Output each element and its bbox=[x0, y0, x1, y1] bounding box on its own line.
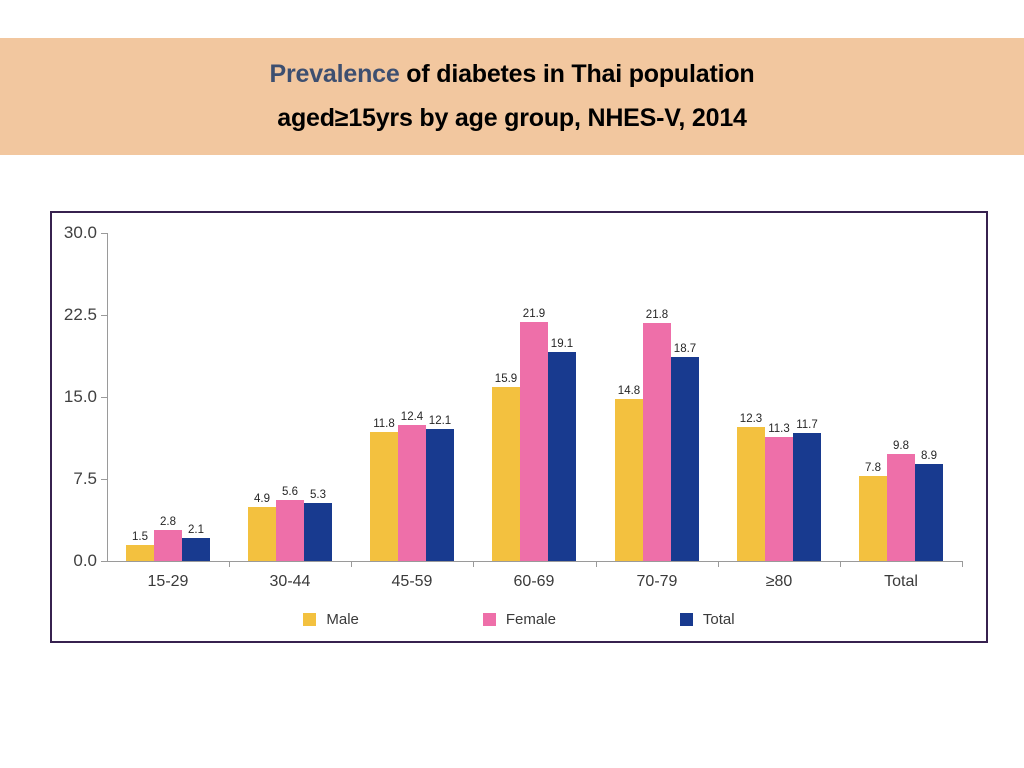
bar-slot: 9.8 bbox=[887, 233, 915, 561]
bar-slot: 1.5 bbox=[126, 233, 154, 561]
bar-slot: 12.4 bbox=[398, 233, 426, 561]
x-axis-category-label: 60-69 bbox=[473, 573, 595, 591]
bar-slot: 5.6 bbox=[276, 233, 304, 561]
plot-area: 0.07.515.022.530.0 1.52.82.115-294.95.65… bbox=[107, 233, 962, 561]
bar-value-label: 15.9 bbox=[495, 373, 517, 385]
bar-group-total: 7.89.88.9Total bbox=[840, 233, 962, 561]
bar-female[interactable] bbox=[887, 454, 915, 561]
bars-row: 1.52.82.1 bbox=[107, 233, 229, 561]
bar-value-label: 21.9 bbox=[523, 308, 545, 320]
y-axis-tick-label: 30.0 bbox=[64, 223, 97, 243]
x-axis-separator bbox=[718, 561, 719, 567]
bar-slot: 21.9 bbox=[520, 233, 548, 561]
y-axis-tick-label: 7.5 bbox=[73, 469, 97, 489]
bar-value-label: 21.8 bbox=[646, 309, 668, 321]
bar-male[interactable] bbox=[492, 387, 520, 561]
bar-slot: 11.7 bbox=[793, 233, 821, 561]
bar-value-label: 4.9 bbox=[254, 493, 270, 505]
y-axis-tick-label: 0.0 bbox=[73, 551, 97, 571]
bar-slot: 12.1 bbox=[426, 233, 454, 561]
bar-female[interactable] bbox=[154, 530, 182, 561]
bar-value-label: 14.8 bbox=[618, 385, 640, 397]
bar-female[interactable] bbox=[765, 437, 793, 561]
bar-value-label: 12.4 bbox=[401, 411, 423, 423]
chart-legend: MaleFemaleTotal bbox=[52, 611, 986, 628]
bar-group-60-69: 15.921.919.160-69 bbox=[473, 233, 595, 561]
title-band: Prevalence of diabetes in Thai populatio… bbox=[0, 38, 1024, 155]
x-axis-category-label: ≥80 bbox=[718, 573, 840, 591]
x-axis-separator bbox=[596, 561, 597, 567]
page-title-accent: Prevalence bbox=[270, 60, 400, 88]
bar-value-label: 5.3 bbox=[310, 489, 326, 501]
bar-slot: 11.8 bbox=[370, 233, 398, 561]
legend-item-female[interactable]: Female bbox=[483, 611, 556, 628]
bar-slot: 5.3 bbox=[304, 233, 332, 561]
bar-total[interactable] bbox=[915, 464, 943, 561]
bar-value-label: 19.1 bbox=[551, 338, 573, 350]
bar-slot: 4.9 bbox=[248, 233, 276, 561]
bar-value-label: 5.6 bbox=[282, 486, 298, 498]
bar-group-30-44: 4.95.65.330-44 bbox=[229, 233, 351, 561]
bar-total[interactable] bbox=[426, 429, 454, 561]
bar-slot: 12.3 bbox=[737, 233, 765, 561]
bars-row: 14.821.818.7 bbox=[596, 233, 718, 561]
bar-slot: 19.1 bbox=[548, 233, 576, 561]
bar-slot: 15.9 bbox=[492, 233, 520, 561]
x-axis-separator bbox=[229, 561, 230, 567]
legend-label: Total bbox=[703, 611, 735, 628]
y-axis-tick-label: 15.0 bbox=[64, 387, 97, 407]
x-axis-separator bbox=[473, 561, 474, 567]
bar-value-label: 2.1 bbox=[188, 524, 204, 536]
x-axis-category-label: 15-29 bbox=[107, 573, 229, 591]
legend-item-total[interactable]: Total bbox=[680, 611, 735, 628]
legend-label: Female bbox=[506, 611, 556, 628]
x-axis-category-label: 30-44 bbox=[229, 573, 351, 591]
bar-value-label: 12.1 bbox=[429, 415, 451, 427]
bar-total[interactable] bbox=[548, 352, 576, 561]
page-title-rest: of diabetes in Thai population bbox=[400, 60, 755, 88]
bar-value-label: 2.8 bbox=[160, 516, 176, 528]
y-axis-tick bbox=[101, 561, 107, 562]
bar-group-45-59: 11.812.412.145-59 bbox=[351, 233, 473, 561]
bar-slot: 8.9 bbox=[915, 233, 943, 561]
bar-slot: 2.8 bbox=[154, 233, 182, 561]
bar-male[interactable] bbox=[370, 432, 398, 561]
bar-value-label: 11.3 bbox=[768, 423, 790, 435]
bars-row: 4.95.65.3 bbox=[229, 233, 351, 561]
bar-total[interactable] bbox=[304, 503, 332, 561]
bar-total[interactable] bbox=[182, 538, 210, 561]
bars-row: 11.812.412.1 bbox=[351, 233, 473, 561]
bar-male[interactable] bbox=[859, 476, 887, 561]
bar-total[interactable] bbox=[671, 357, 699, 561]
bar-female[interactable] bbox=[520, 322, 548, 561]
x-axis-category-label: Total bbox=[840, 573, 962, 591]
bars-row: 15.921.919.1 bbox=[473, 233, 595, 561]
bar-group-70-79: 14.821.818.770-79 bbox=[596, 233, 718, 561]
x-axis-separator bbox=[351, 561, 352, 567]
legend-item-male[interactable]: Male bbox=[303, 611, 359, 628]
bar-male[interactable] bbox=[615, 399, 643, 561]
bar-slot: 7.8 bbox=[859, 233, 887, 561]
legend-label: Male bbox=[326, 611, 359, 628]
bar-value-label: 7.8 bbox=[865, 462, 881, 474]
x-axis-separator bbox=[840, 561, 841, 567]
bars-row: 7.89.88.9 bbox=[840, 233, 962, 561]
bar-slot: 2.1 bbox=[182, 233, 210, 561]
bar-slot: 11.3 bbox=[765, 233, 793, 561]
bar-value-label: 9.8 bbox=[893, 440, 909, 452]
page-title-line-1: Prevalence of diabetes in Thai populatio… bbox=[270, 59, 755, 90]
bar-female[interactable] bbox=[276, 500, 304, 561]
bar-total[interactable] bbox=[793, 433, 821, 561]
chart-frame: 0.07.515.022.530.0 1.52.82.115-294.95.65… bbox=[50, 211, 988, 643]
bar-male[interactable] bbox=[737, 427, 765, 561]
bar-value-label: 18.7 bbox=[674, 343, 696, 355]
page-title-line-2: aged≥15yrs by age group, NHES-V, 2014 bbox=[277, 103, 746, 134]
bar-male[interactable] bbox=[126, 545, 154, 561]
bar-female[interactable] bbox=[643, 323, 671, 561]
bar-male[interactable] bbox=[248, 507, 276, 561]
bar-slot: 21.8 bbox=[643, 233, 671, 561]
legend-swatch-icon bbox=[483, 613, 496, 626]
bar-slot: 18.7 bbox=[671, 233, 699, 561]
y-axis-tick-label: 22.5 bbox=[64, 305, 97, 325]
bar-female[interactable] bbox=[398, 425, 426, 561]
bar-slot: 14.8 bbox=[615, 233, 643, 561]
bars-row: 12.311.311.7 bbox=[718, 233, 840, 561]
bar-value-label: 11.8 bbox=[373, 418, 395, 430]
bar-value-label: 1.5 bbox=[132, 531, 148, 543]
bar-value-label: 11.7 bbox=[796, 419, 818, 431]
bar-group-15-29: 1.52.82.115-29 bbox=[107, 233, 229, 561]
legend-swatch-icon bbox=[680, 613, 693, 626]
x-axis-category-label: 45-59 bbox=[351, 573, 473, 591]
x-axis-line bbox=[107, 561, 962, 562]
legend-swatch-icon bbox=[303, 613, 316, 626]
x-axis-separator bbox=[962, 561, 963, 567]
bar-value-label: 12.3 bbox=[740, 413, 762, 425]
x-axis-category-label: 70-79 bbox=[596, 573, 718, 591]
bar-value-label: 8.9 bbox=[921, 450, 937, 462]
bar-group--80: 12.311.311.7≥80 bbox=[718, 233, 840, 561]
